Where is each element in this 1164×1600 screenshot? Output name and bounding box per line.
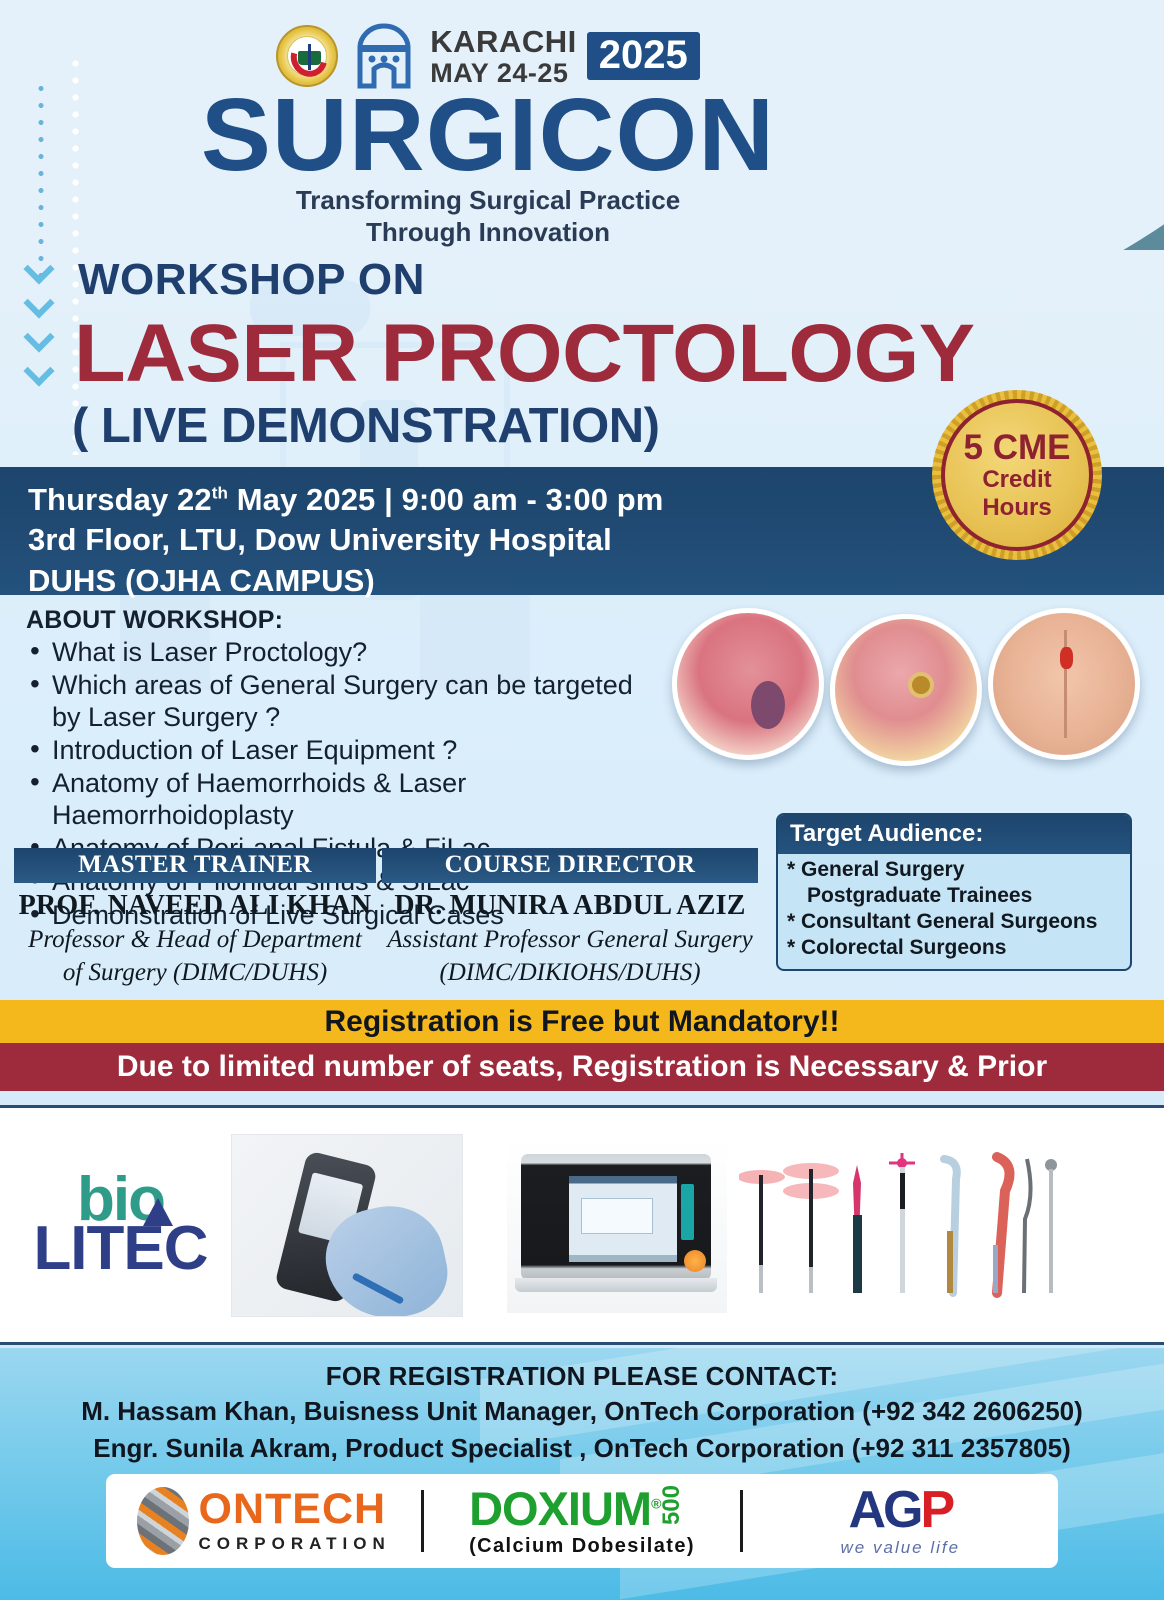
surgicon-logo-block: KARACHI MAY 24-25 2025 SURGICON Transfor… (178, 22, 798, 248)
role-title: COURSE DIRECTOR (382, 848, 758, 883)
brand-title: SURGICON (172, 88, 804, 183)
badge-line3: Hours (982, 495, 1051, 521)
list-item: Introduction of Laser Equipment ? (26, 735, 706, 766)
target-audience-box: Target Audience: * General SurgeryPostgr… (776, 813, 1132, 971)
registration-free-banner: Registration is Free but Mandatory!! (0, 1000, 1164, 1043)
pilonidal-sinus-illustration (988, 608, 1140, 760)
cme-credit-badge: 5 CME Credit Hours (932, 390, 1102, 560)
biolitec-text-2: LITEC (16, 1223, 225, 1276)
eyebrow-title: WORKSHOP ON (78, 255, 425, 305)
sponsor-doxium: DOXIUM® 500 (Calcium Dobesilate) (424, 1474, 739, 1568)
target-audience-heading: Target Audience: (778, 815, 1130, 854)
list-item: * General SurgeryPostgraduate Trainees (787, 857, 1121, 909)
person-affiliation-1: Assistant Professor General Surgery (382, 925, 758, 955)
contact-line-2: Engr. Sunila Akram, Product Specialist ,… (0, 1431, 1164, 1466)
haemorrhoids-illustration (672, 608, 824, 760)
list-item: * Consultant General Surgeons (787, 909, 1121, 935)
course-director-card: COURSE DIRECTOR DR. MUNIRA ABDUL AZIZ As… (382, 848, 758, 988)
contact-line-1: M. Hassam Khan, Buisness Unit Manager, O… (0, 1394, 1164, 1429)
biolitec-triangle-icon (143, 1198, 173, 1226)
laser-fiber-probes-photo (739, 1135, 1164, 1315)
dotted-line-decor (38, 80, 44, 280)
agp-tagline: we value life (841, 1538, 961, 1558)
product-showcase-band: bio LITEC (0, 1105, 1164, 1345)
contact-section: FOR REGISTRATION PLEASE CONTACT: M. Hass… (0, 1348, 1164, 1466)
anatomy-illustrations (672, 608, 1132, 803)
tagline-line-2: Through Innovation (178, 217, 798, 248)
doxium-name: DOXIUM® (469, 1485, 660, 1532)
sponsor-bar: ONTECH CORPORATION DOXIUM® 500 (Calcium … (106, 1474, 1058, 1568)
contact-heading: FOR REGISTRATION PLEASE CONTACT: (0, 1361, 1164, 1392)
badge-inner: 5 CME Credit Hours (941, 399, 1093, 551)
person-name: DR. MUNIRA ABDUL AZIZ (382, 890, 758, 922)
sponsor-agp: AGP we value life (743, 1474, 1058, 1568)
person-name: PROF. NAVEED ALI KHAN (14, 890, 376, 922)
person-affiliation-2: of Surgery (DIMC/DUHS) (14, 958, 376, 988)
laser-console-device-photo (507, 1138, 727, 1313)
biolitec-logo: bio LITEC (0, 1174, 225, 1275)
person-affiliation-1: Professor & Head of Department (14, 925, 376, 955)
target-audience-list: * General SurgeryPostgraduate Trainees *… (778, 854, 1130, 969)
ontech-egg-icon (137, 1487, 189, 1555)
page-title: LASER PROCTOLOGY (74, 307, 975, 401)
city-label: KARACHI (430, 26, 576, 57)
list-item: Which areas of General Surgery can be ta… (26, 670, 706, 733)
ontech-subtitle: CORPORATION (199, 1534, 391, 1554)
role-title: MASTER TRAINER (14, 848, 376, 883)
person-affiliation-2: (DIMC/DIKIOHS/DUHS) (382, 958, 758, 988)
fistula-illustration (830, 614, 982, 766)
sponsor-ontech: ONTECH CORPORATION (106, 1474, 421, 1568)
badge-credits: 5 CME (964, 430, 1071, 465)
badge-line2: Credit (982, 467, 1051, 493)
registration-free-text: Registration is Free but Mandatory!! (324, 1005, 839, 1039)
handheld-laser-device-photo (231, 1134, 463, 1317)
poster-root: KARACHI MAY 24-25 2025 SURGICON Transfor… (0, 0, 1164, 1600)
master-trainer-card: MASTER TRAINER PROF. NAVEED ALI KHAN Pro… (14, 848, 376, 988)
list-item: What is Laser Proctology? (26, 637, 706, 668)
doxium-strength: 500 (660, 1485, 684, 1525)
event-venue-line2: DUHS (OJHA CAMPUS) (28, 561, 1164, 601)
year-badge: 2025 (587, 32, 700, 80)
registration-notice-banner: Due to limited number of seats, Registra… (0, 1043, 1164, 1091)
agp-name: AGP (841, 1484, 961, 1536)
page-subtitle: ( LIVE DEMONSTRATION) (72, 398, 659, 454)
about-heading: ABOUT WORKSHOP: (26, 606, 706, 635)
ontech-name: ONTECH (199, 1488, 391, 1531)
list-item: * Colorectal Surgeons (787, 935, 1121, 961)
doxium-subtitle: (Calcium Dobesilate) (469, 1535, 695, 1558)
list-item: Anatomy of Haemorrhoids & Laser Haemorrh… (26, 768, 706, 831)
registration-notice-text: Due to limited number of seats, Registra… (117, 1050, 1047, 1084)
